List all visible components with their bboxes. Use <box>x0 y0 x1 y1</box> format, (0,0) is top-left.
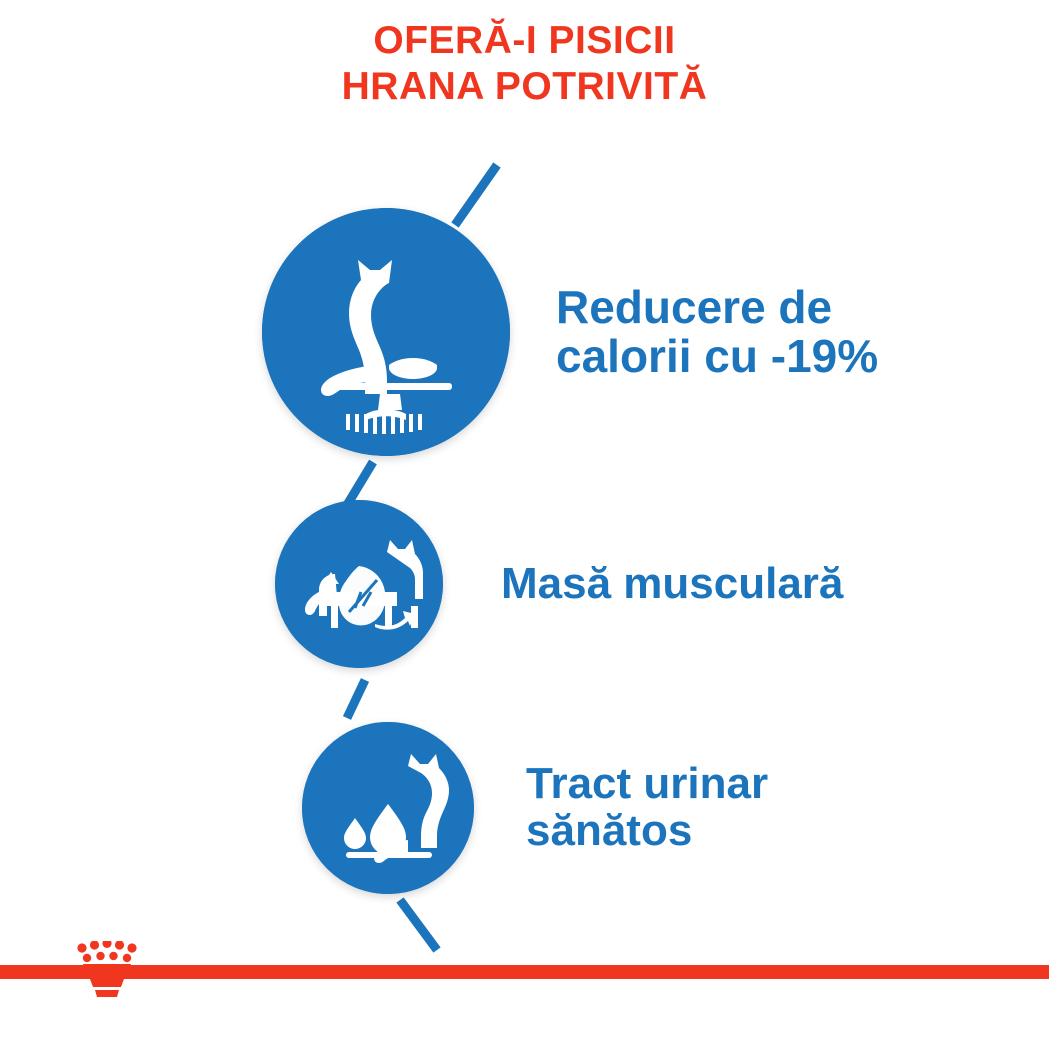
cat-muscle-mass-icon <box>275 500 443 668</box>
title-line-2: HRANA POTRIVITĂ <box>0 64 1049 110</box>
benefit-row-muscle-mass: Masă musculară <box>275 500 843 668</box>
title-line-1: OFERĂ-I PISICII <box>0 18 1049 64</box>
royal-canin-crown-icon <box>74 941 140 999</box>
benefit-label-3: Tract urinar sănătos <box>526 761 768 854</box>
page-title: OFERĂ-I PISICII HRANA POTRIVITĂ <box>0 18 1049 110</box>
benefit-label-2: Masă musculară <box>501 561 843 608</box>
benefit-icon-bubble-1 <box>262 208 510 456</box>
benefit-label-1: Reducere de calorii cu -19% <box>556 283 878 381</box>
footer-bar <box>0 965 1049 979</box>
cat-sitting-at-bowl-icon <box>262 208 510 456</box>
cat-urinary-tract-drop-icon <box>302 722 474 894</box>
infographic-canvas: OFERĂ-I PISICII HRANA POTRIVITĂ <box>0 0 1049 1049</box>
benefit-row-urinary-tract: Tract urinar sănătos <box>302 722 768 894</box>
benefit-row-calorie-reduction: Reducere de calorii cu -19% <box>262 208 878 456</box>
benefit-icon-bubble-3 <box>302 722 474 894</box>
benefit-icon-bubble-2 <box>275 500 443 668</box>
